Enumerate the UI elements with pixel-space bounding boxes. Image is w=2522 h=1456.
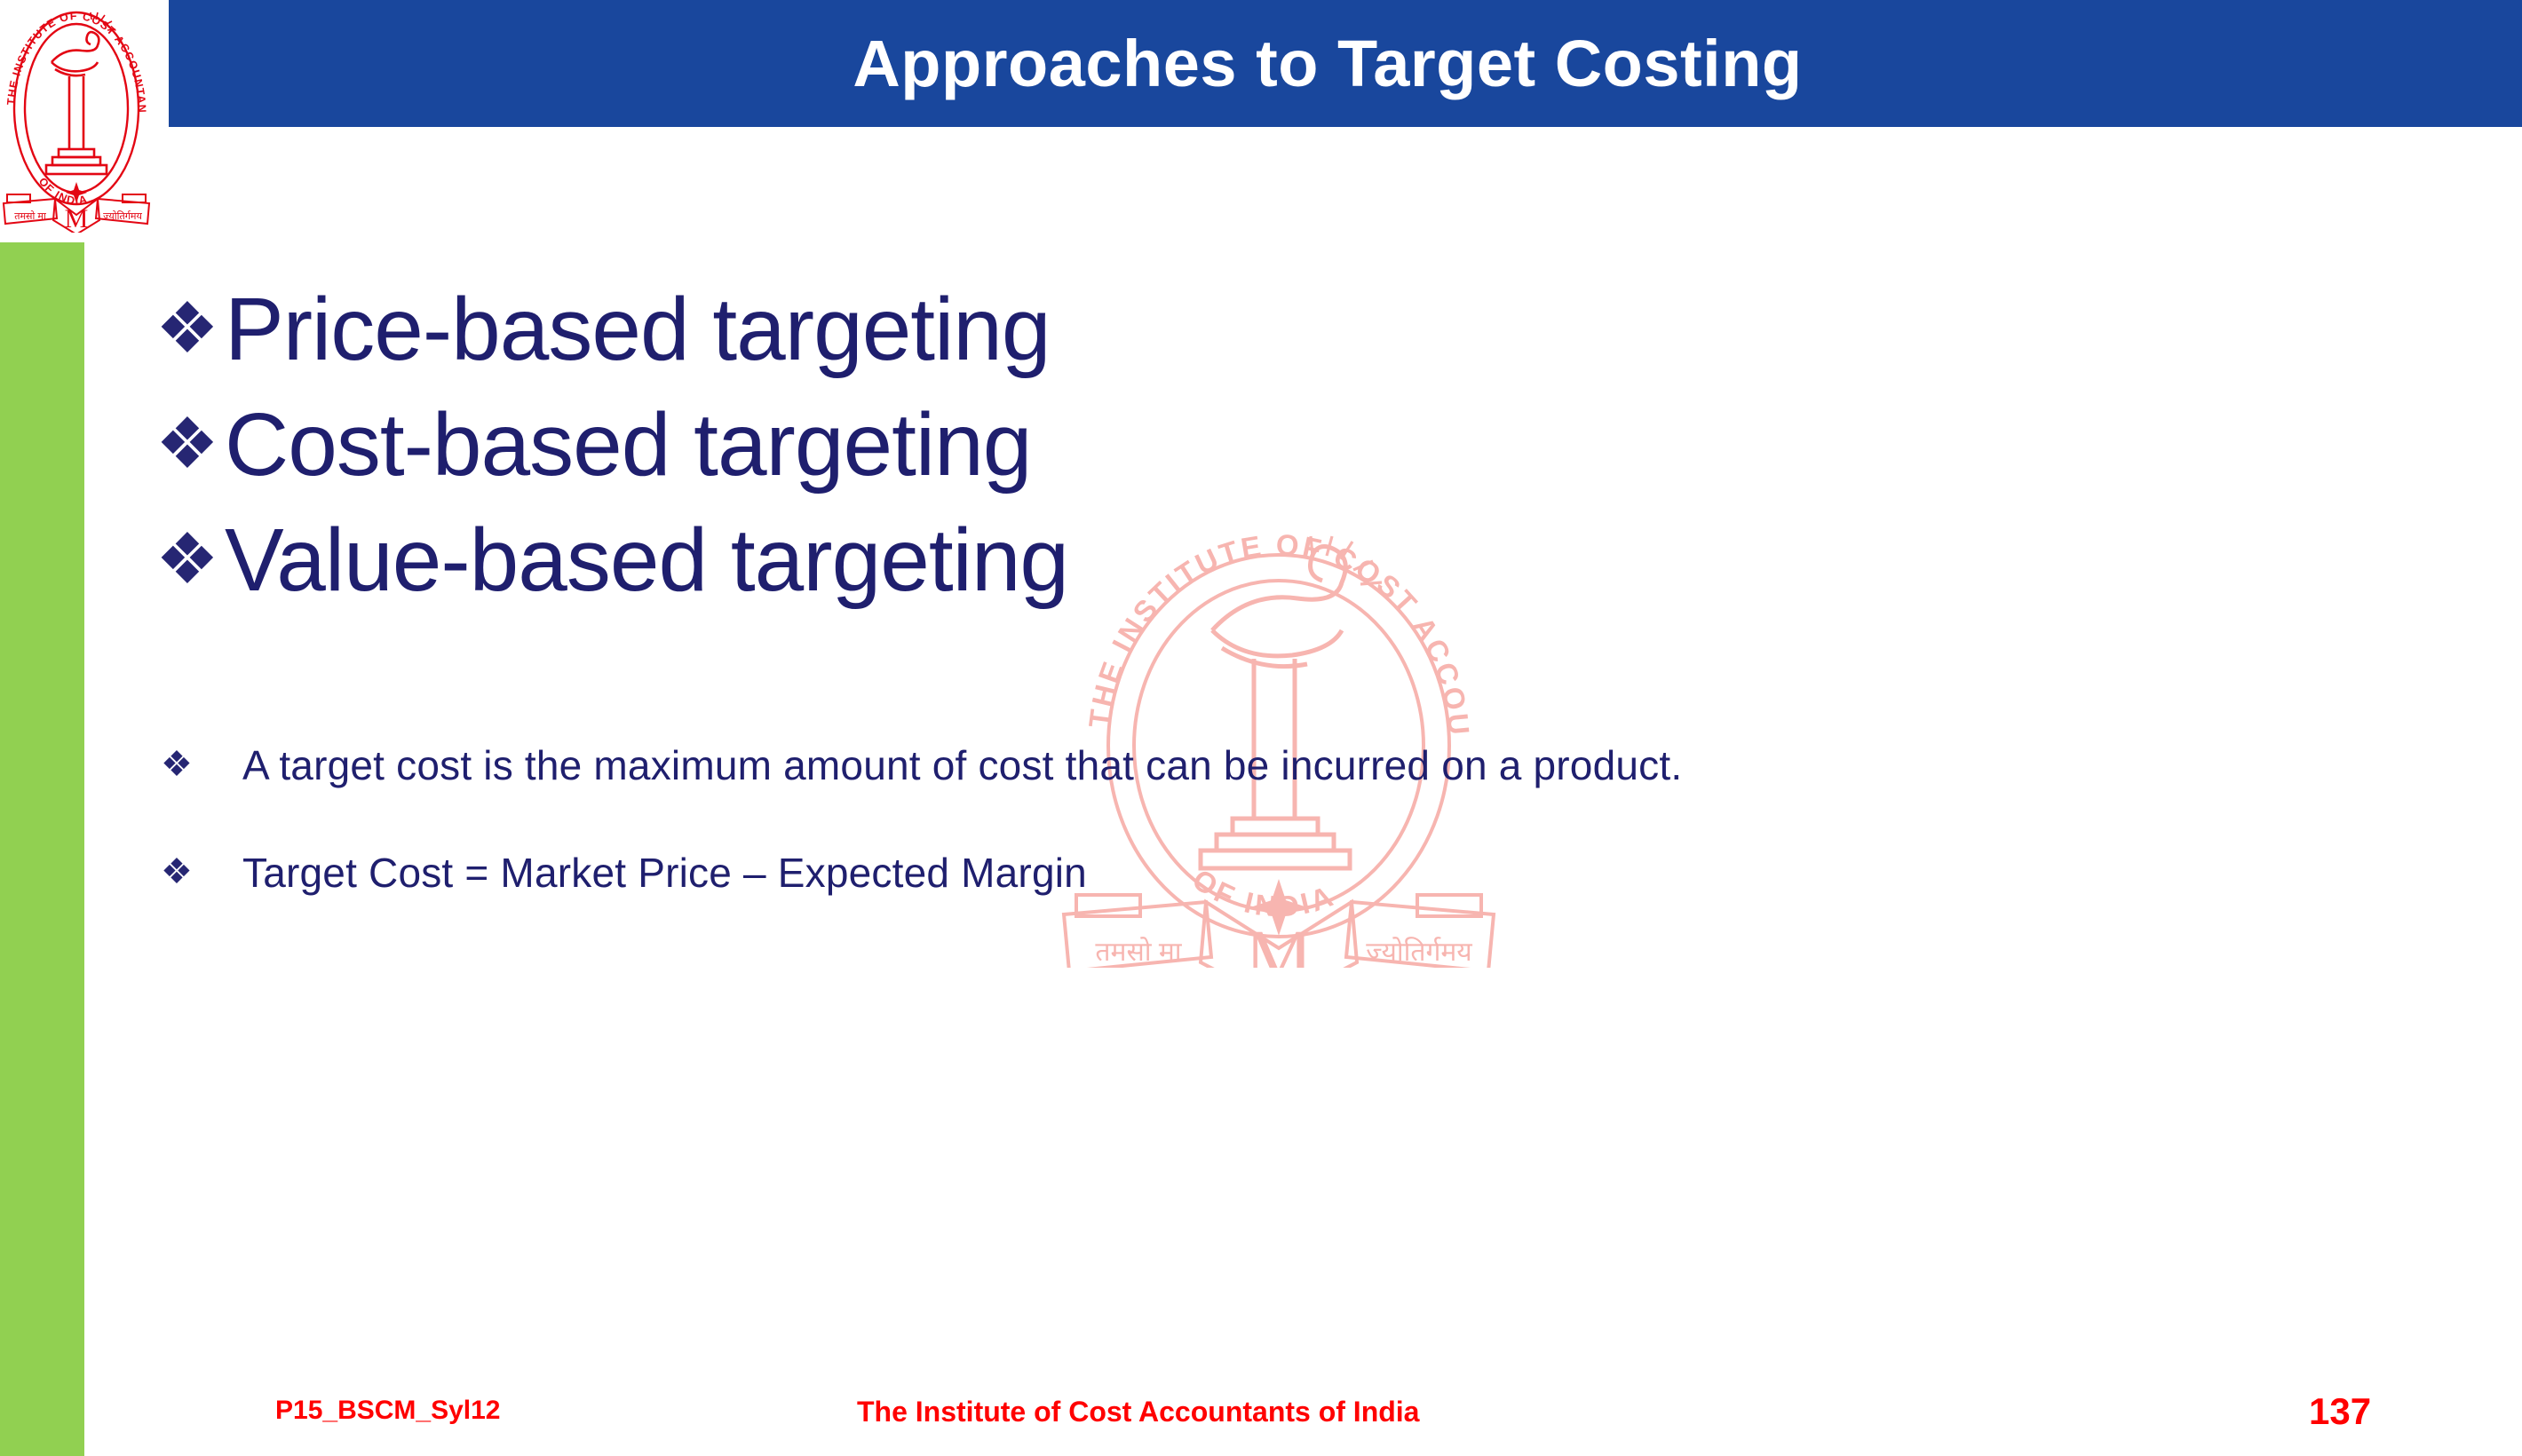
main-bullet-label: Value-based targeting [225, 515, 2438, 605]
svg-text:THE INSTITUTE OF COST ACCOUNTA: THE INSTITUTE OF COST ACCOUNTANTS [0, 0, 148, 114]
main-bullet-item: ❖ Price-based targeting [155, 284, 2438, 375]
slide-body: ❖ Price-based targeting ❖ Cost-based tar… [155, 284, 2438, 953]
slide-footer: P15_BSCM_Syl12 The Institute of Cost Acc… [0, 1385, 2522, 1447]
sub-bullet-item: ❖ Target Cost = Market Price – Expected … [155, 846, 2438, 900]
main-bullet-item: ❖ Value-based targeting [155, 515, 2438, 605]
page-title: Approaches to Target Costing [853, 31, 1837, 97]
svg-text:M: M [65, 204, 89, 233]
sub-bullet-item: ❖ A target cost is the maximum amount of… [155, 739, 2438, 793]
diamond-bullet-icon: ❖ [155, 284, 225, 373]
footer-paper-code: P15_BSCM_Syl12 [275, 1396, 500, 1426]
svg-text:ज्योतिर्गमय: ज्योतिर्गमय [103, 210, 142, 222]
left-green-accent-bar [0, 242, 84, 1456]
diamond-bullet-icon: ❖ [155, 515, 225, 604]
main-bullet-label: Cost-based targeting [225, 400, 2438, 490]
icai-logo: THE INSTITUTE OF COST ACCOUNTANTS OF IND… [0, 0, 153, 233]
sub-bullet-label: A target cost is the maximum amount of c… [242, 739, 2347, 793]
main-bullet-item: ❖ Cost-based targeting [155, 400, 2438, 490]
diamond-bullet-icon: ❖ [155, 400, 225, 488]
sub-bullet-label: Target Cost = Market Price – Expected Ma… [242, 846, 2347, 900]
main-bullet-label: Price-based targeting [225, 284, 2438, 375]
footer-page-number: 137 [2309, 1390, 2371, 1433]
slide-title-bar: Approaches to Target Costing [169, 0, 2522, 127]
svg-text:तमसो मा: तमसो मा [14, 210, 46, 222]
diamond-bullet-icon: ❖ [155, 846, 242, 898]
diamond-bullet-icon: ❖ [155, 739, 242, 790]
footer-institute-name: The Institute of Cost Accountants of Ind… [857, 1396, 1419, 1428]
presentation-slide: Approaches to Target Costing THE INSTITU… [0, 0, 2522, 1456]
sub-bullet-list: ❖ A target cost is the maximum amount of… [155, 739, 2438, 899]
